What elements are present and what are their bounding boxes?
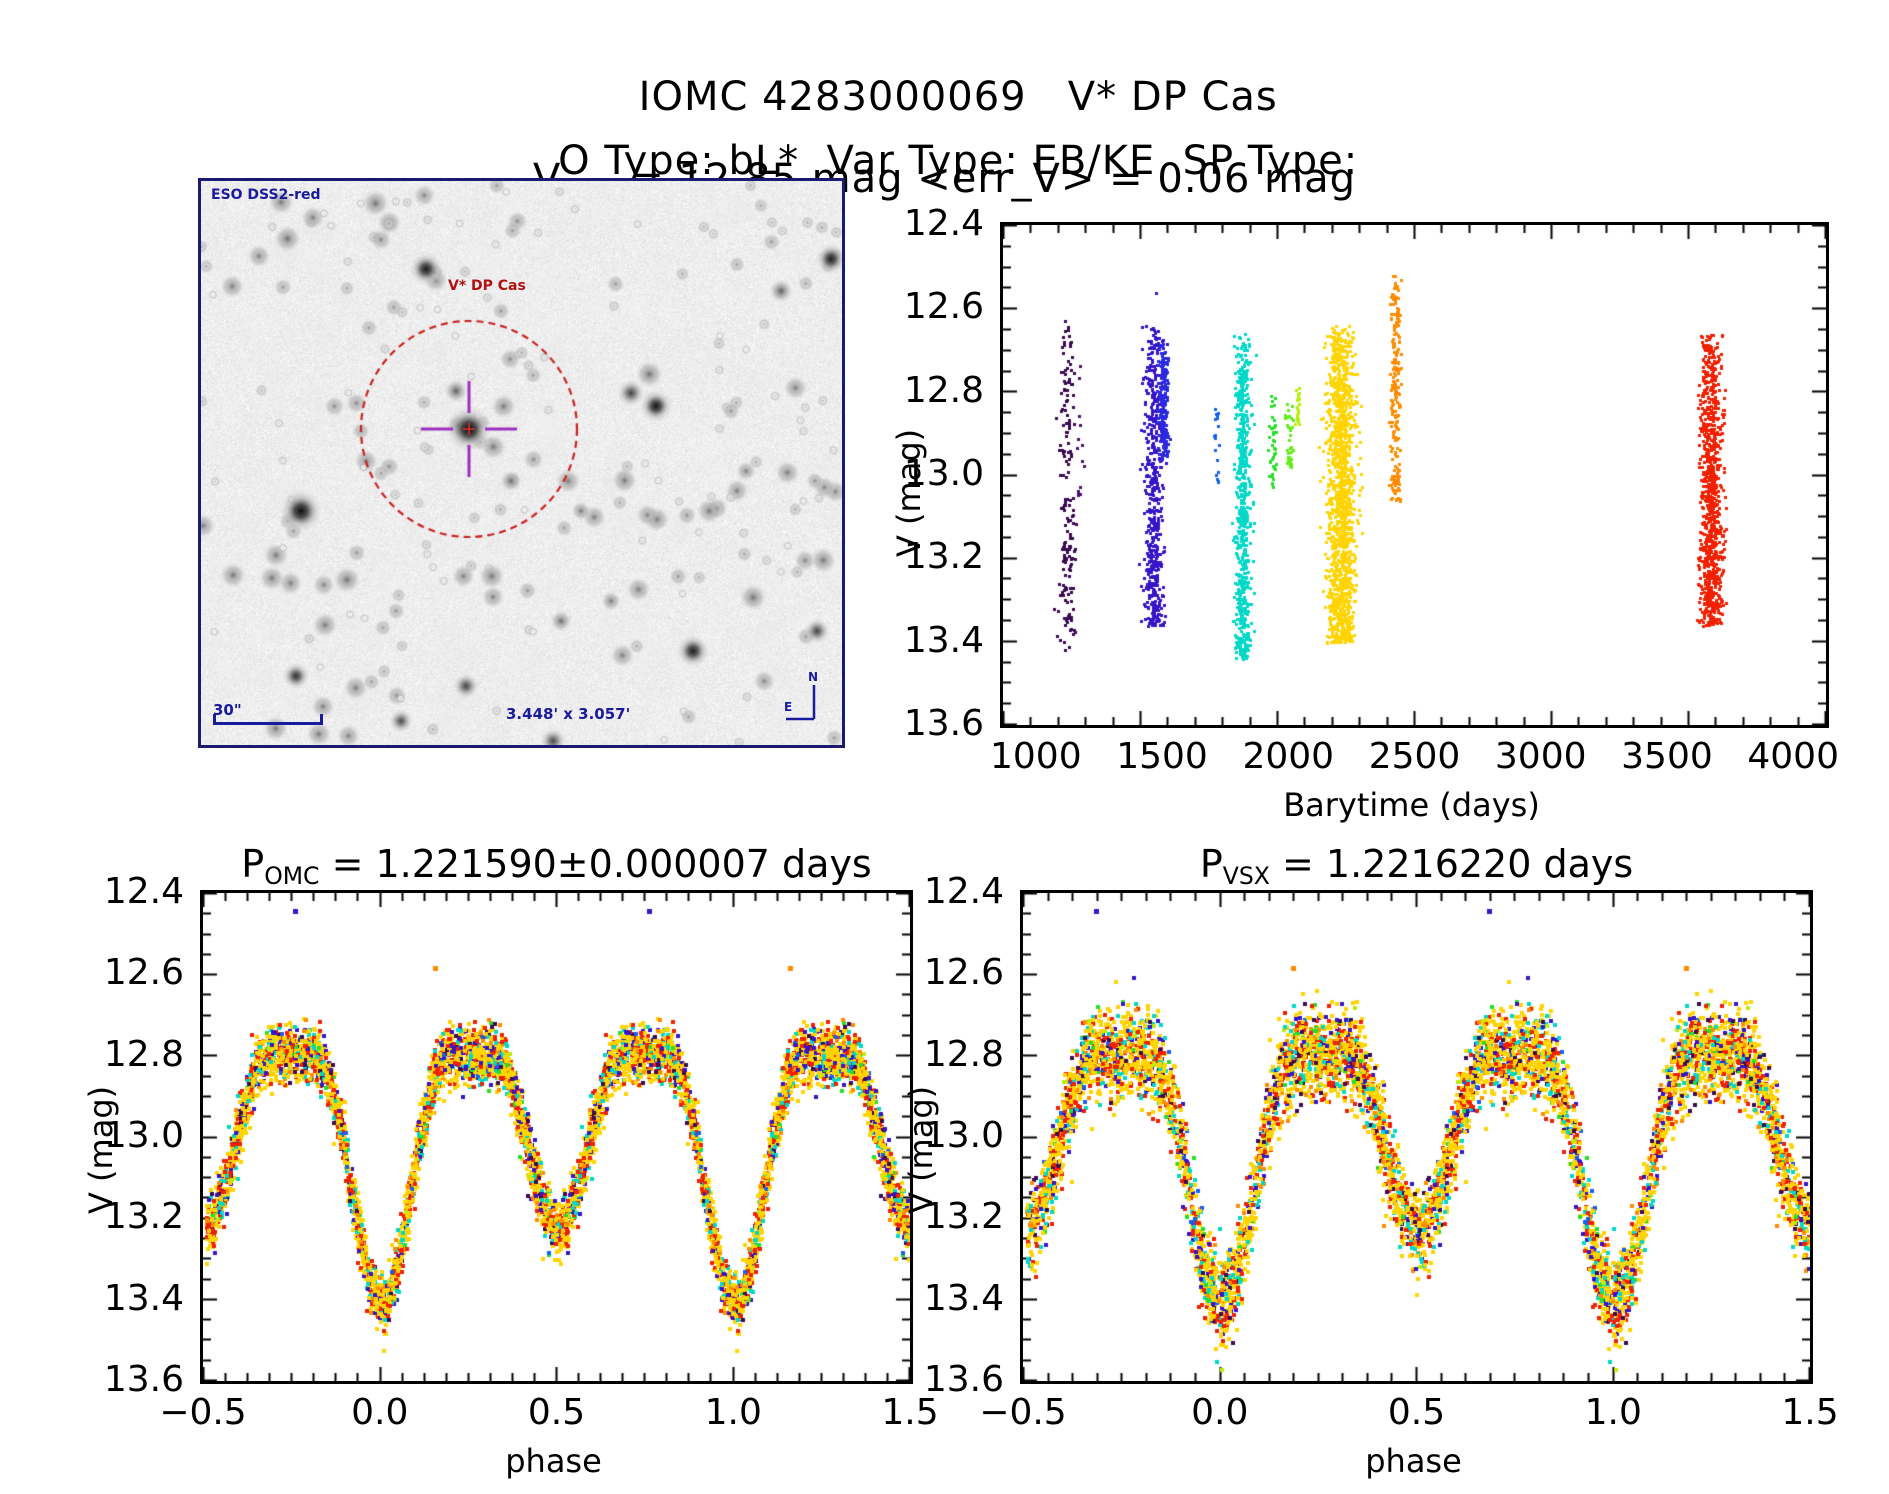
vsx-plot-title: PVSX = 1.2216220 days: [1020, 842, 1813, 890]
axis-tick-label: 2500: [1359, 736, 1471, 777]
vsx-title-subscript: VSX: [1223, 862, 1270, 890]
vsx-scatter-canvas: [1023, 893, 1810, 1381]
vsx-phase-plot-frame[interactable]: [1020, 890, 1813, 1384]
axis-tick-label: 1000: [980, 736, 1092, 777]
axis-tick-label: 13.0: [0, 1115, 1004, 1156]
vsx-x-axis-title: phase: [1304, 1442, 1524, 1480]
lightcurve-x-axis-title: Barytime (days): [1252, 786, 1572, 824]
axis-tick-label: 13.2: [0, 536, 984, 577]
axis-tick-label: 0.0: [1164, 1392, 1276, 1433]
axis-tick-label: 3500: [1611, 736, 1723, 777]
axis-tick-label: 13.6: [0, 703, 984, 744]
axis-tick-label: 13.4: [0, 620, 984, 661]
axis-tick-label: 12.6: [0, 952, 1004, 993]
lightcurve-plot-frame[interactable]: [1000, 222, 1829, 728]
axis-tick-label: −0.5: [967, 1392, 1079, 1433]
vsx-y-axis-title: V (mag): [902, 1086, 940, 1214]
axis-tick-label: 4000: [1737, 736, 1849, 777]
vsx-title-prefix: P: [1200, 842, 1223, 886]
axis-tick-label: 1.0: [1557, 1392, 1669, 1433]
axis-tick-label: 2000: [1232, 736, 1344, 777]
svg-text:N: N: [808, 670, 818, 684]
axis-tick-label: 0.5: [1361, 1392, 1473, 1433]
axis-tick-label: 13.6: [0, 1359, 1004, 1400]
lightcurve-scatter-canvas: [1003, 225, 1826, 725]
axis-tick-label: 12.4: [0, 203, 984, 244]
vsx-title-rest: = 1.2216220 days: [1270, 842, 1633, 886]
axis-tick-label: 13.2: [0, 1196, 1004, 1237]
sky-survey-label: ESO DSS2-red: [211, 187, 321, 203]
axis-tick-label: 12.8: [0, 370, 984, 411]
axis-tick-label: 12.4: [0, 871, 1004, 912]
axis-tick-label: 1500: [1106, 736, 1218, 777]
axis-tick-label: 1.5: [1754, 1392, 1866, 1433]
axis-tick-label: 13.4: [0, 1278, 1004, 1319]
axis-tick-label: 3000: [1485, 736, 1597, 777]
axis-tick-label: 12.8: [0, 1034, 1004, 1075]
axis-tick-label: 13.0: [0, 453, 984, 494]
omc-x-axis-title: phase: [444, 1442, 664, 1480]
axis-tick-label: 12.6: [0, 286, 984, 327]
